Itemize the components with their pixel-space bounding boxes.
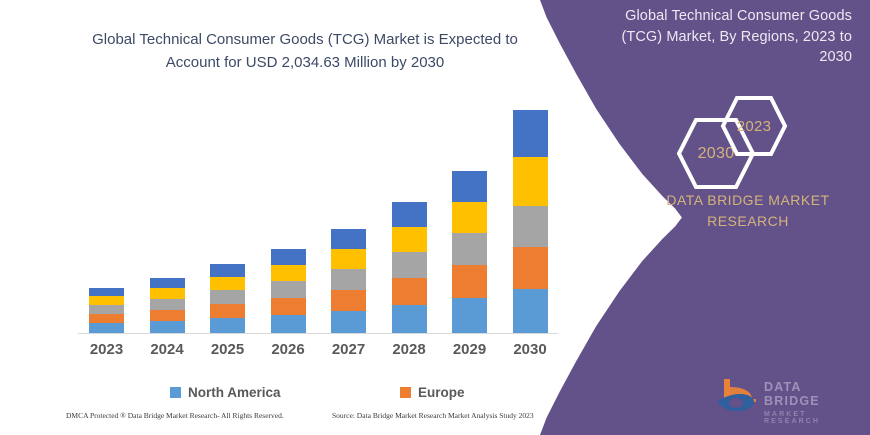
- logo-line-1: DATA BRIDGE: [764, 380, 856, 408]
- bar-segment-north-america: [271, 315, 306, 333]
- brand-name: DATA BRIDGE MARKET RESEARCH: [648, 190, 848, 232]
- bar-segment-north-america: [392, 305, 427, 333]
- bar-segment-europe: [513, 247, 548, 289]
- bar-segment-middle-east-and-africa: [210, 264, 245, 277]
- legend-label: North America: [188, 385, 281, 400]
- bar-segment-north-america: [452, 298, 487, 333]
- bar-segment-south-america: [392, 227, 427, 252]
- bar-segment-middle-east-and-africa: [271, 249, 306, 265]
- legend-item-europe[interactable]: Europe: [400, 385, 465, 400]
- x-axis-tick-2025: 2025: [198, 341, 258, 358]
- x-axis-tick-2024: 2024: [137, 341, 197, 358]
- hexagon-badge-2023: 2023: [720, 95, 788, 157]
- bar-segment-asia-pacific: [271, 281, 306, 298]
- bar-segment-europe: [210, 304, 245, 318]
- chart-plot-area: 20232024202520262027202820292030: [0, 0, 600, 340]
- bar-segment-north-america: [150, 321, 185, 333]
- logo-wordmark: DATA BRIDGE MARKET RESEARCH: [764, 380, 856, 425]
- footer: DMCA Protected ® Data Bridge Market Rese…: [0, 411, 600, 431]
- bar-segment-north-america: [89, 323, 124, 333]
- bar-segment-south-america: [331, 249, 366, 269]
- bar-segment-south-america: [150, 288, 185, 299]
- bar-segment-europe: [150, 310, 185, 321]
- bar-2024: [150, 278, 185, 333]
- bar-2030: [513, 110, 548, 333]
- bar-2028: [392, 202, 427, 333]
- footer-source-text: Source: Data Bridge Market Research Mark…: [332, 411, 534, 420]
- logo-line-2: MARKET RESEARCH: [764, 411, 856, 425]
- bar-segment-south-america: [513, 157, 548, 206]
- bar-segment-south-america: [89, 296, 124, 305]
- bar-2023: [89, 288, 124, 333]
- bar-segment-asia-pacific: [331, 269, 366, 290]
- hexagon-label-2023: 2023: [737, 118, 772, 135]
- legend-swatch-icon: [170, 387, 181, 398]
- x-axis-tick-2030: 2030: [500, 341, 560, 358]
- bar-segment-asia-pacific: [210, 290, 245, 304]
- bar-segment-middle-east-and-africa: [513, 110, 548, 157]
- bar-segment-europe: [392, 278, 427, 305]
- bar-2027: [331, 229, 366, 333]
- x-axis-tick-2027: 2027: [319, 341, 379, 358]
- bar-segment-europe: [452, 265, 487, 298]
- bar-segment-asia-pacific: [513, 206, 548, 247]
- bar-segment-middle-east-and-africa: [392, 202, 427, 227]
- company-logo: DATA BRIDGE MARKET RESEARCH: [716, 377, 856, 415]
- bar-segment-south-america: [452, 202, 487, 233]
- x-axis-tick-2023: 2023: [77, 341, 137, 358]
- bar-2029: [452, 171, 487, 333]
- brand-line-2: RESEARCH: [648, 211, 848, 232]
- bar-segment-asia-pacific: [452, 233, 487, 265]
- bar-segment-south-america: [210, 277, 245, 290]
- bar-segment-north-america: [513, 289, 548, 333]
- bar-segment-asia-pacific: [392, 252, 427, 278]
- x-axis-labels: 20232024202520262027202820292030: [0, 341, 600, 367]
- bar-2026: [271, 249, 306, 333]
- legend-item-north-america[interactable]: North America: [170, 385, 281, 400]
- bar-segment-middle-east-and-africa: [452, 171, 487, 202]
- bar-2025: [210, 264, 245, 333]
- bar-segment-asia-pacific: [150, 299, 185, 310]
- bar-segment-north-america: [210, 318, 245, 333]
- x-axis-line: [78, 333, 558, 334]
- x-axis-tick-2026: 2026: [258, 341, 318, 358]
- brand-line-1: DATA BRIDGE MARKET: [648, 190, 848, 211]
- bar-segment-europe: [271, 298, 306, 315]
- bar-segment-middle-east-and-africa: [150, 278, 185, 288]
- legend-swatch-icon: [400, 387, 411, 398]
- bar-segment-middle-east-and-africa: [331, 229, 366, 249]
- legend-label: Europe: [418, 385, 465, 400]
- bar-segment-middle-east-and-africa: [89, 288, 124, 296]
- footer-dmca-text: DMCA Protected ® Data Bridge Market Rese…: [66, 411, 284, 420]
- bar-segment-south-america: [271, 265, 306, 281]
- chart-legend: North AmericaEurope: [170, 385, 570, 407]
- panel-title: Global Technical Consumer Goods (TCG) Ma…: [607, 6, 852, 68]
- bar-segment-europe: [89, 314, 124, 323]
- bar-segment-europe: [331, 290, 366, 311]
- bar-segment-asia-pacific: [89, 305, 124, 314]
- bar-segment-north-america: [331, 311, 366, 333]
- x-axis-tick-2028: 2028: [379, 341, 439, 358]
- data-bridge-logo-icon: [716, 377, 758, 413]
- x-axis-tick-2029: 2029: [440, 341, 500, 358]
